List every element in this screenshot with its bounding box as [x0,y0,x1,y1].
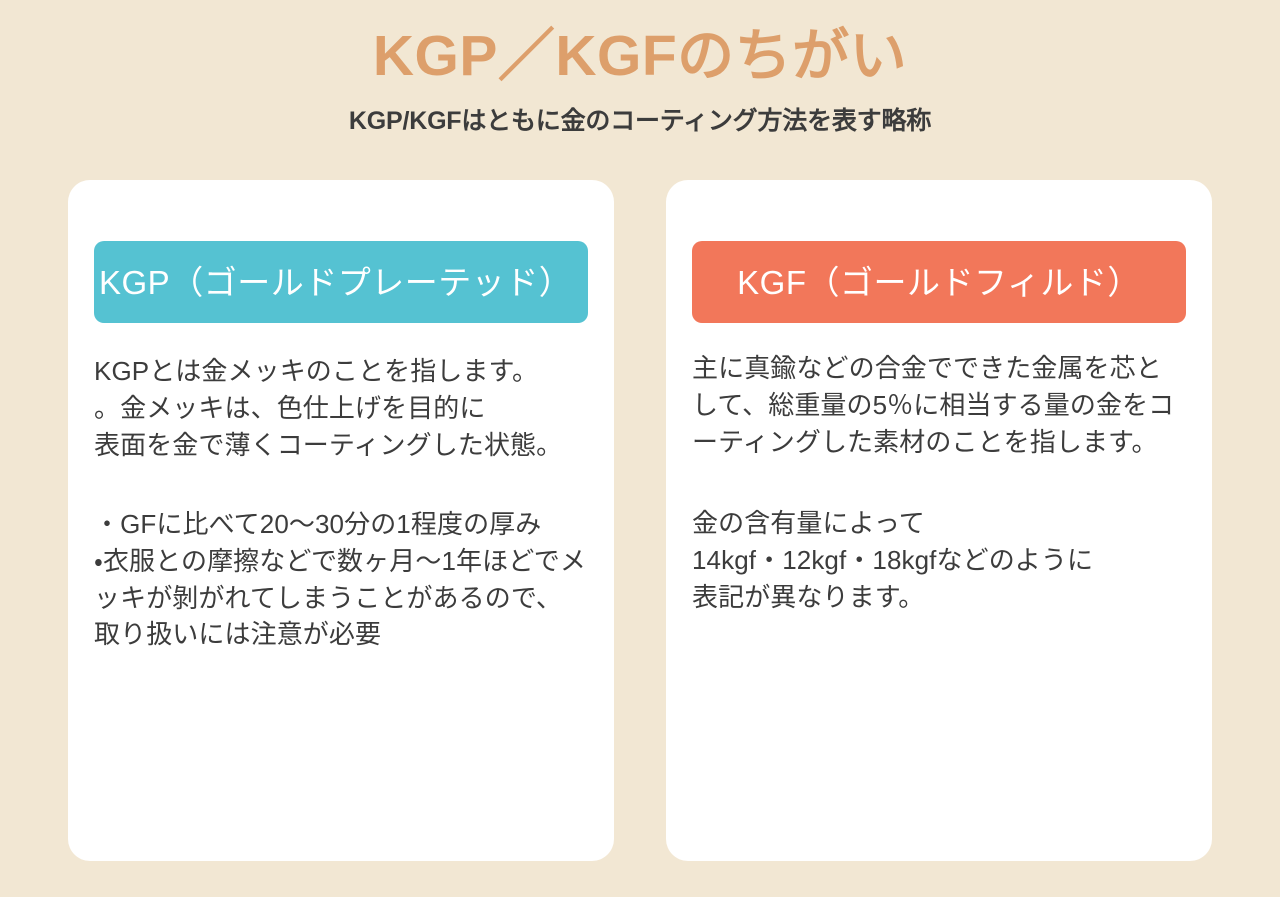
card-kgf-paragraph-2: 金の含有量によって 14kgf・12kgf・18kgfなどのように 表記が異なり… [692,505,1186,616]
card-kgp-paragraph-1: KGPとは金メッキのことを指します。 。金メッキは、色仕上げを目的に 表面を金で… [94,353,588,464]
card-kgp-paragraph-2: ・GFに比べて20〜30分の1程度の厚み ・衣服との摩擦などで数ヶ月〜1年ほどで… [94,506,588,654]
card-kgp: KGP（ゴールドプレーテッド） KGPとは金メッキのことを指します。 。金メッキ… [68,180,614,861]
slide-header: KGP／KGFのちがい KGP/KGFはともに金のコーティング方法を表す略称 [0,0,1280,136]
page-subtitle: KGP/KGFはともに金のコーティング方法を表す略称 [0,106,1280,136]
card-kgp-header-pill: KGP（ゴールドプレーテッド） [94,241,588,323]
page-title: KGP／KGFのちがい [0,24,1280,90]
slide-root: KGP／KGFのちがい KGP/KGFはともに金のコーティング方法を表す略称 K… [0,0,1280,897]
card-kgf: KGF（ゴールドフィルド） 主に真鍮などの合金でできた金属を芯として、総重量の5… [666,180,1212,861]
card-kgf-header-label: KGF（ゴールドフィルド） [737,266,1141,299]
card-kgp-header-label: KGP（ゴールドプレーテッド） [99,266,572,299]
card-kgf-paragraph-1: 主に真鍮などの合金でできた金属を芯として、総重量の5％に相当する量の金をコーティ… [692,350,1186,461]
comparison-cards: KGP（ゴールドプレーテッド） KGPとは金メッキのことを指します。 。金メッキ… [68,180,1212,861]
card-kgf-header-pill: KGF（ゴールドフィルド） [692,241,1186,323]
